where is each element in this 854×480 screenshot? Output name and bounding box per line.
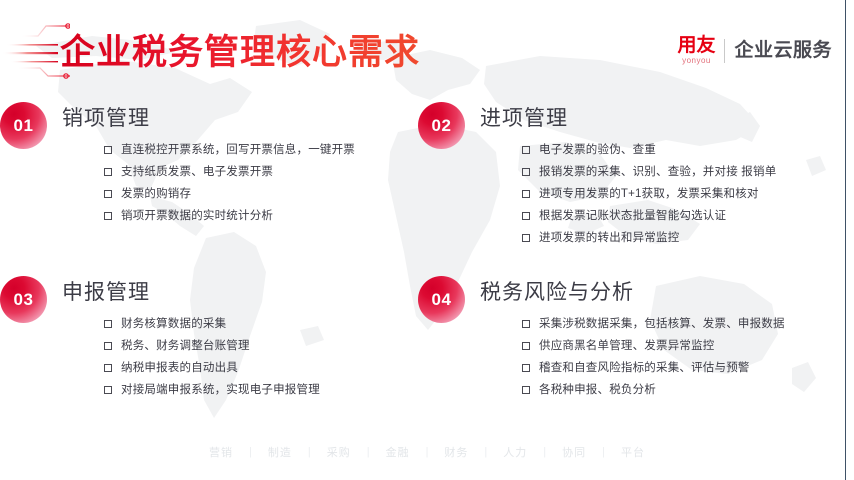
logo-mark: 用友 yonyou (677, 36, 724, 66)
section-body-02: 进项管理 电子发票的验伪、查重 报销发票的采集、识别、查验，并对接 报销单 进项… (418, 96, 854, 249)
logo-brand-cn: 用友 (677, 36, 715, 55)
section-04: 04 税务风险与分析 采集涉税数据采集，包括核算、发票、申报数据 供应商黑名单管… (410, 270, 854, 401)
footer-item-7: 平台 (605, 444, 661, 460)
footer-item-5: 人力 (487, 444, 543, 460)
section-bullets-03: 财务核算数据的采集 税务、财务调整台账管理 纳税申报表的自动出具 对接局端申报系… (62, 313, 410, 401)
list-item: 报销发票的采集、识别、查验，并对接 报销单 (522, 161, 854, 183)
section-01: 01 销项管理 直连税控开票系统，回写开票信息，一键开票 支持纸质发票、电子发票… (0, 96, 410, 270)
slide-canvas: 企业税务管理核心需求 用友 yonyou 企业云服务 01 销项管理 直连税控开… (0, 0, 854, 480)
section-03: 03 申报管理 财务核算数据的采集 税务、财务调整台账管理 纳税申报表的自动出具… (0, 270, 410, 401)
section-body-03: 申报管理 财务核算数据的采集 税务、财务调整台账管理 纳税申报表的自动出具 对接… (62, 270, 410, 401)
list-item: 纳税申报表的自动出具 (104, 357, 410, 379)
section-body-01: 销项管理 直连税控开票系统，回写开票信息，一键开票 支持纸质发票、电子发票开票 … (62, 96, 410, 227)
list-item: 对接局端申报系统，实现电子申报管理 (104, 379, 410, 401)
list-item: 稽查和自查风险指标的采集、评估与预警 (522, 357, 854, 379)
footer-item-6: 协同 (546, 444, 602, 460)
section-bullets-01: 直连税控开票系统，回写开票信息，一键开票 支持纸质发票、电子发票开票 发票的购销… (62, 139, 410, 227)
list-item: 根据发票记账状态批量智能勾选认证 (522, 205, 854, 227)
list-item: 进项专用发票的T+1获取，发票采集和核对 (522, 183, 854, 205)
section-title-04: 税务风险与分析 (480, 270, 854, 306)
footer-categories: 营销 | 制造 | 采购 | 金融 | 财务 | 人力 | 协同 | 平台 (0, 444, 854, 460)
footer-item-2: 采购 (311, 444, 367, 460)
section-title-01: 销项管理 (62, 96, 410, 132)
logo-product-name: 企业云服务 (725, 40, 832, 62)
section-body-04: 税务风险与分析 采集涉税数据采集，包括核算、发票、申报数据 供应商黑名单管理、发… (418, 270, 854, 401)
yonyou-logo: 用友 yonyou 企业云服务 (677, 34, 832, 68)
section-02: 02 进项管理 电子发票的验伪、查重 报销发票的采集、识别、查验，并对接 报销单… (410, 96, 854, 270)
sections-grid: 01 销项管理 直连税控开票系统，回写开票信息，一键开票 支持纸质发票、电子发票… (0, 96, 854, 401)
list-item: 电子发票的验伪、查重 (522, 139, 854, 161)
list-item: 供应商黑名单管理、发票异常监控 (522, 335, 854, 357)
section-title-02: 进项管理 (480, 96, 854, 132)
list-item: 销项开票数据的实时统计分析 (104, 205, 410, 227)
list-item: 各税种申报、税负分析 (522, 379, 854, 401)
section-number-badge-04: 04 (418, 276, 465, 323)
section-number-badge-01: 01 (0, 102, 47, 149)
footer-item-3: 金融 (370, 444, 426, 460)
page-title: 企业税务管理核心需求 (60, 32, 420, 74)
list-item: 税务、财务调整台账管理 (104, 335, 410, 357)
list-item: 采集涉税数据采集，包括核算、发票、申报数据 (522, 313, 854, 335)
slide-edge-rule (845, 0, 846, 480)
section-number-badge-03: 03 (0, 276, 47, 323)
section-bullets-02: 电子发票的验伪、查重 报销发票的采集、识别、查验，并对接 报销单 进项专用发票的… (480, 139, 854, 249)
section-title-03: 申报管理 (62, 270, 410, 306)
footer-item-4: 财务 (428, 444, 484, 460)
logo-brand-en: yonyou (682, 56, 711, 66)
section-bullets-04: 采集涉税数据采集，包括核算、发票、申报数据 供应商黑名单管理、发票异常监控 稽查… (480, 313, 854, 401)
list-item: 进项发票的转出和异常监控 (522, 227, 854, 249)
list-item: 支持纸质发票、电子发票开票 (104, 161, 410, 183)
section-number-badge-02: 02 (418, 102, 465, 149)
list-item: 发票的购销存 (104, 183, 410, 205)
footer-item-1: 制造 (252, 444, 308, 460)
footer-item-0: 营销 (193, 444, 249, 460)
list-item: 财务核算数据的采集 (104, 313, 410, 335)
list-item: 直连税控开票系统，回写开票信息，一键开票 (104, 139, 410, 161)
